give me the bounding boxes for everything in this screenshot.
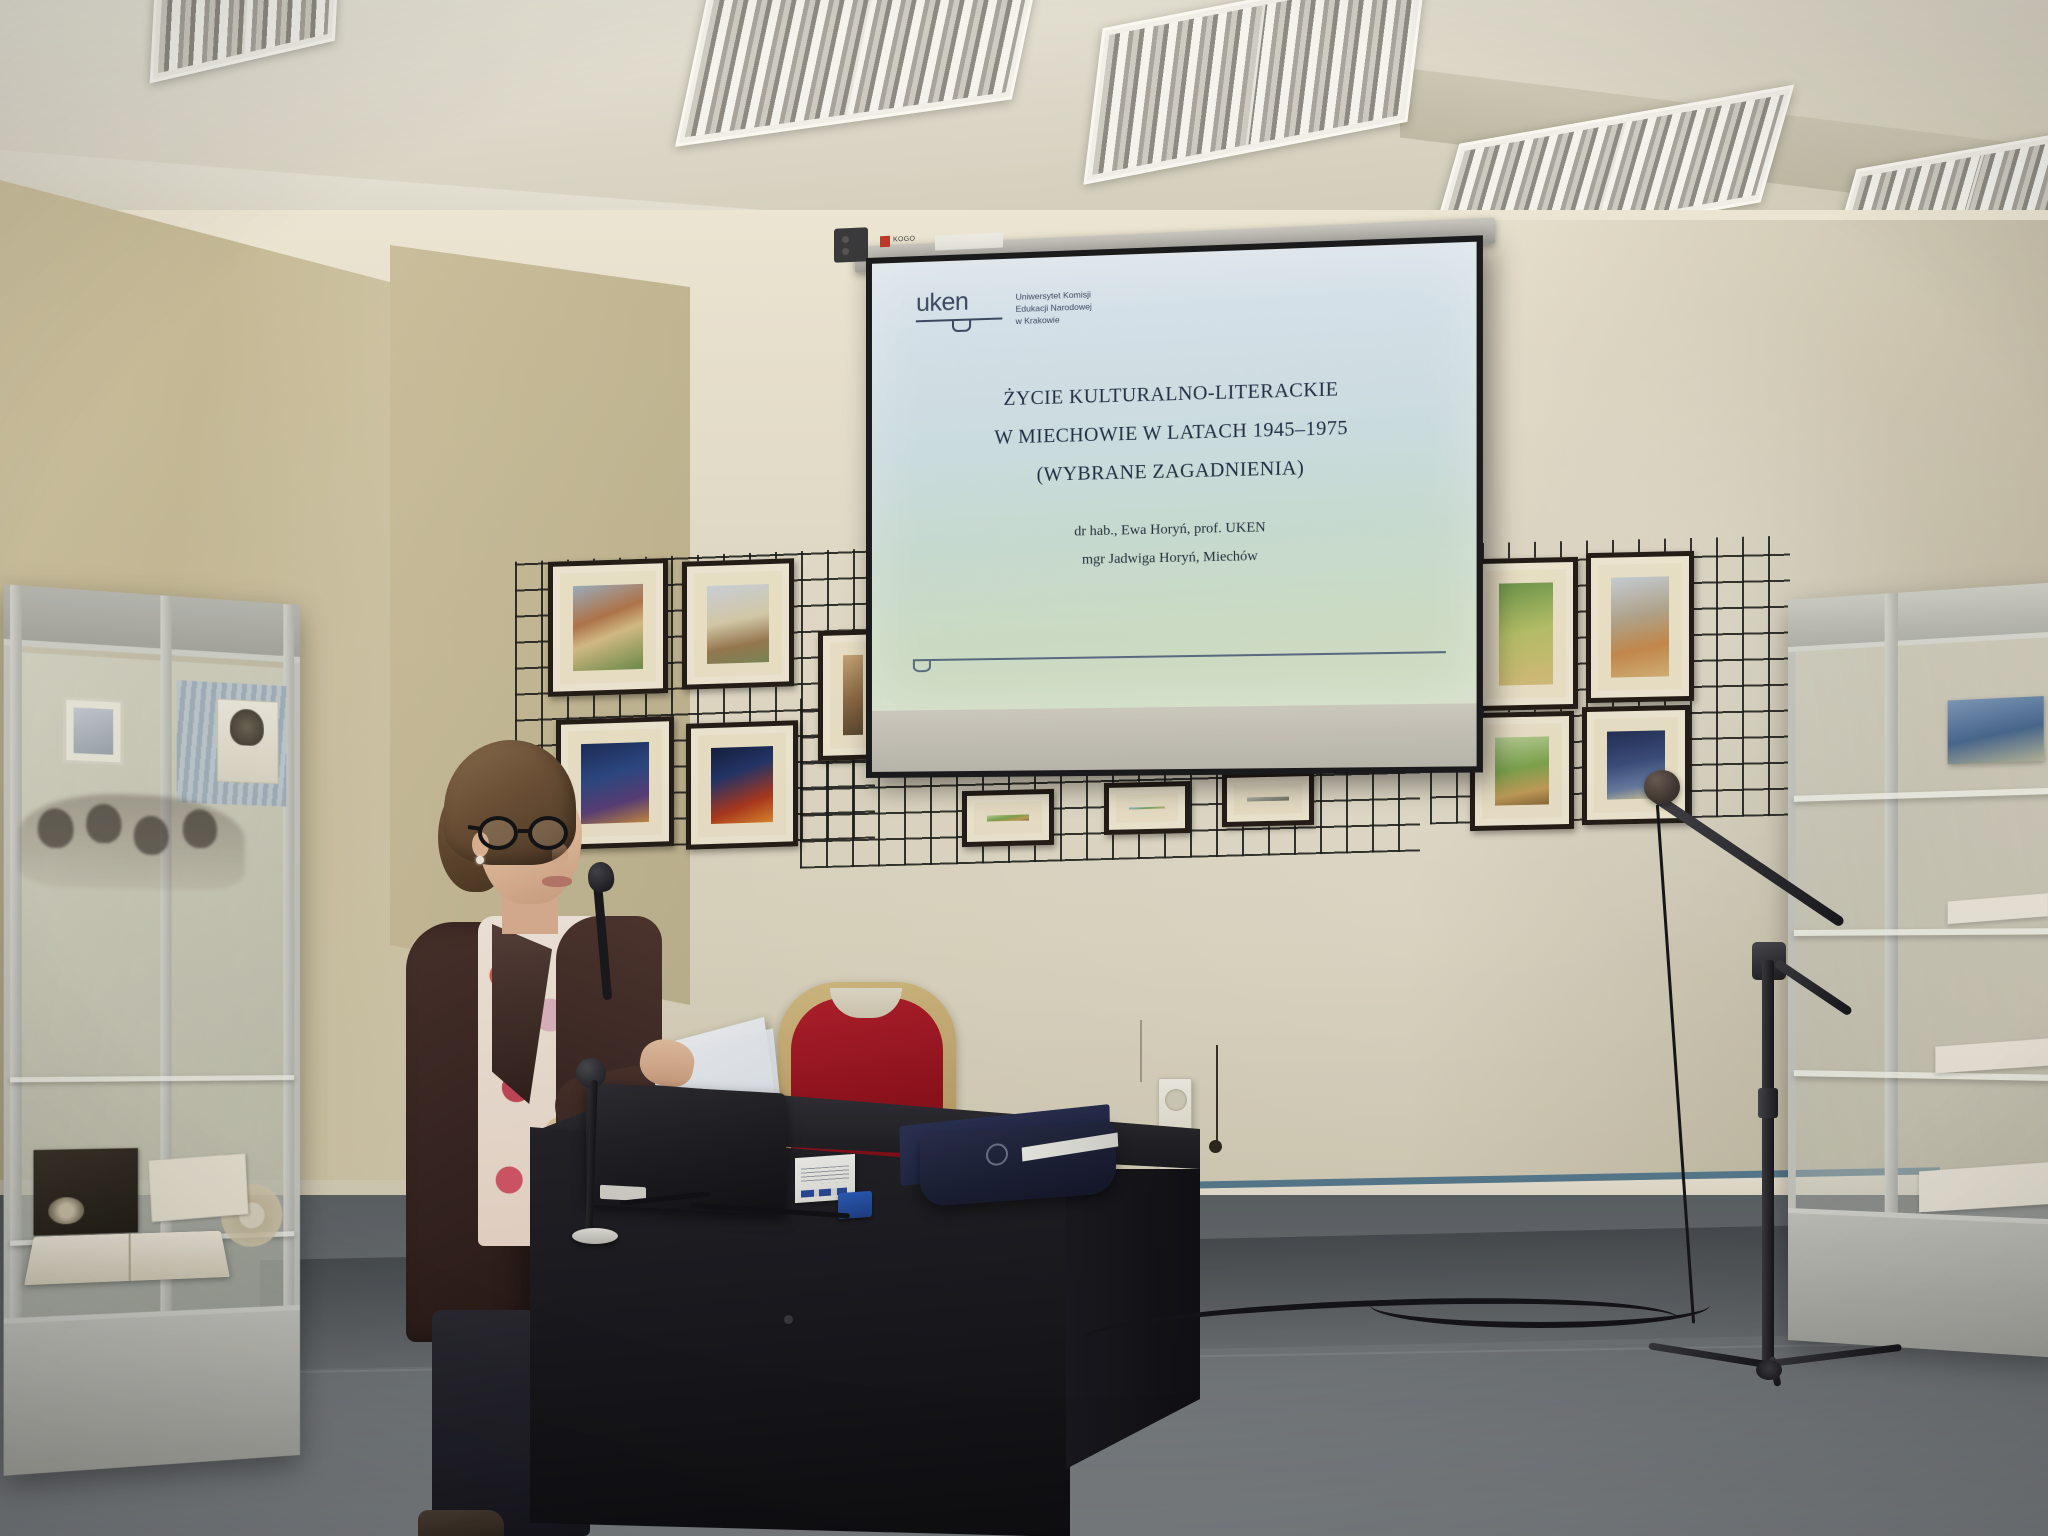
earring: [476, 856, 484, 864]
shoe: [418, 1510, 504, 1536]
case-framed-picture: [63, 696, 123, 765]
document-seal: [48, 1197, 84, 1225]
screen-surface: uken Uniwersytet Komisji Edukacji Narodo…: [872, 242, 1477, 772]
housing-label-tab: [935, 232, 1003, 250]
uken-logo: uken Uniwersytet Komisji Edukacji Narodo…: [916, 285, 1092, 330]
microphone-cable: [1656, 805, 1695, 1324]
case-paper-sheet: [149, 1154, 249, 1222]
artwork-image: [1499, 582, 1553, 685]
mic-boom-arm: [1649, 791, 1845, 928]
lips: [542, 876, 572, 887]
uken-wordmark: uken: [916, 288, 1002, 316]
screen-housing-endcap: [834, 227, 868, 263]
slide-title: ŻYCIE KULTURALNO-LITERACKIE W MIECHOWIE …: [907, 367, 1439, 497]
left-glass-display-case: [4, 584, 300, 1476]
case-plinth: [4, 1305, 300, 1476]
case-poster: [217, 699, 278, 785]
eyeglasses: [476, 816, 582, 850]
screen-blank-margin: [872, 703, 1477, 772]
framed-artwork: [682, 558, 794, 690]
uken-wordmark-block: uken: [916, 288, 1002, 322]
case-dark-document: [33, 1148, 137, 1236]
hanging-cable-plug: [1209, 1140, 1222, 1153]
bag-logo-icon: [986, 1143, 1008, 1167]
framed-artwork: [1222, 771, 1314, 827]
mic-stand-foot: [1756, 1360, 1782, 1380]
framed-artwork: [1474, 557, 1578, 711]
cabinet-framed-seascape: [1948, 696, 2044, 764]
framed-artwork: [1586, 551, 1694, 703]
artwork-image: [1611, 576, 1669, 677]
boom-microphone-stand[interactable]: [1640, 770, 1940, 1370]
brand-mark-icon: [880, 236, 890, 247]
uken-book-icon: [916, 317, 1002, 322]
presentation-room-scene: KOGO uken Uniwersytet Komisji Edukacji N…: [0, 0, 2048, 1536]
projection-screen: uken Uniwersytet Komisji Edukacji Narodo…: [866, 235, 1483, 778]
mic-height-collar[interactable]: [1758, 1088, 1778, 1118]
housing-brand-label: KOGO: [893, 235, 915, 243]
hanging-cable: [1216, 1045, 1218, 1145]
audience-reflection-head: [86, 803, 121, 843]
artwork-image: [843, 655, 863, 736]
uken-subtitle: Uniwersytet Komisji Edukacji Narodowej w…: [1016, 285, 1092, 327]
desk-screw-hole: [784, 1315, 793, 1324]
housing-mount-dot: [842, 236, 849, 243]
artwork-image: [987, 814, 1029, 821]
mic-tripod-leg: [1768, 1344, 1902, 1367]
floor-cable: [1370, 1282, 1710, 1328]
framed-artwork: [1470, 711, 1574, 831]
framed-artwork: [1104, 781, 1190, 835]
audience-reflection-head: [38, 808, 74, 849]
mic-boom-counterweight-arm: [1773, 959, 1853, 1017]
framed-artwork: [962, 789, 1054, 847]
info-card-text-lines: [801, 1165, 849, 1184]
mic-stand-pole: [1762, 960, 1774, 1370]
framed-artwork: [548, 558, 668, 697]
slide-decorative-rule: [913, 651, 1445, 661]
case-open-book: [24, 1231, 230, 1285]
slide-authors: dr hab., Ewa Horyń, prof. UKEN mgr Jadwi…: [907, 510, 1439, 578]
artwork-image: [711, 746, 773, 824]
microphone-head: [1644, 770, 1680, 804]
artwork-image: [573, 584, 643, 671]
presentation-slide: uken Uniwersytet Komisji Edukacji Narodo…: [872, 242, 1477, 711]
desk-microphone-base: [572, 1228, 618, 1244]
artwork-image: [707, 584, 769, 664]
eyeglass-lens-left: [478, 816, 518, 850]
mic-tripod-leg: [1648, 1342, 1772, 1368]
eyeglass-bridge: [518, 829, 530, 833]
artwork-image: [1495, 736, 1549, 805]
audience-reflection-head: [134, 815, 169, 855]
housing-mount-dot: [842, 248, 849, 255]
eyeglass-lens-right: [528, 816, 568, 850]
wall-wire: [1140, 1020, 1142, 1082]
picture-image: [74, 707, 114, 754]
poster-portrait: [230, 708, 264, 746]
laptop-bag[interactable]: [920, 1121, 1116, 1207]
audience-reflection-head: [183, 809, 217, 849]
